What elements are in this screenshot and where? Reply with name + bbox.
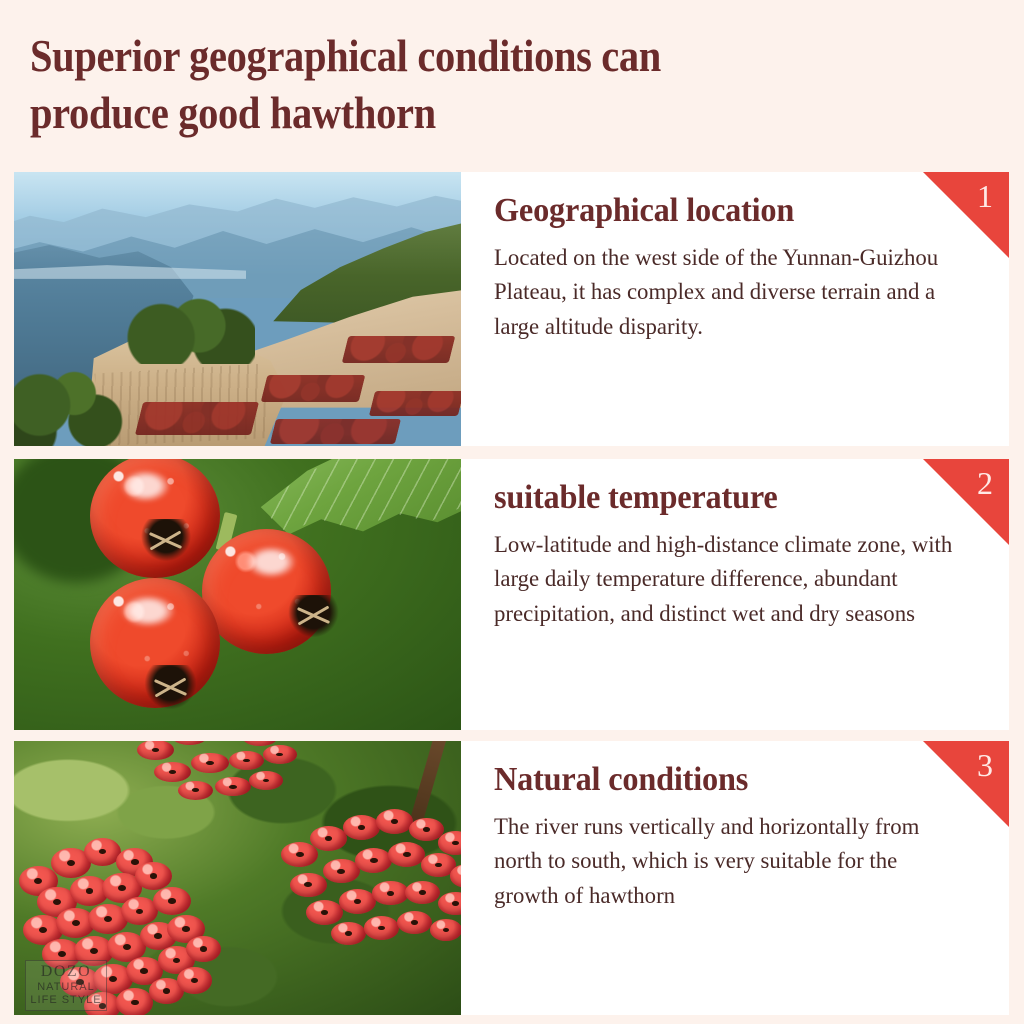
card-1-title: Geographical location [494,192,951,229]
card-3-number: 3 [977,749,993,781]
canyon-photo [14,172,461,446]
hawthorn-berry-shape [405,881,440,904]
info-card-2: 2 suitable temperature Low-latitude and … [14,459,1009,730]
hawthorn-berry-shape [430,919,462,941]
card-1-image [14,172,461,446]
card-1-body: 1 Geographical location Located on the w… [461,172,1009,446]
hawthorn-berry-shape [186,936,221,962]
hawthorn-berry-shape [339,889,376,914]
hawthorn-berry-shape [154,762,191,782]
hawthorn-berry-shape [178,781,214,801]
card-2-image [14,459,461,730]
hawthorn-fruit-photo [14,459,461,730]
hawthorn-berry-shape [171,741,208,745]
card-3-description: The river runs vertically and horizontal… [494,810,958,912]
hawthorn-berry-shape [229,751,265,771]
watermark-line-1: NATURAL [30,981,102,993]
hawthorn-berry-shape [177,967,212,993]
watermark-brand: DOZO [30,963,102,981]
hawthorn-berry-shape [263,745,297,764]
fruit-highlight-shape [246,546,295,579]
hawthorn-berry-shape [438,892,461,915]
hawthorn-berry-shape [116,988,153,1015]
card-2-description: Low-latitude and high-distance climate z… [494,528,958,630]
hawthorn-berry-shape [306,900,343,925]
hawthorn-berry-shape [372,881,409,906]
hawthorn-berry-shape [323,859,360,884]
hawthorn-berry-shape [310,826,347,851]
berry-cluster [273,801,461,938]
hawthorn-berry-shape [137,741,174,760]
card-1-number: 1 [977,180,993,212]
card-1-description: Located on the west side of the Yunnan-G… [494,241,958,343]
info-card-3: DOZO NATURAL LIFE STYLE 3 Natural condit… [14,741,1009,1015]
brand-watermark: DOZO NATURAL LIFE STYLE [25,960,107,1011]
hawthorn-berry-shape [215,777,251,797]
hawthorn-berry-shape [355,848,392,873]
infographic-page: Superior geographical conditions can pro… [0,0,1024,1024]
fruit-highlight-shape [121,595,175,628]
atmospheric-haze-overlay [14,172,461,446]
hawthorn-berry-shape [343,815,380,840]
hawthorn-berry-shape [290,873,327,898]
fruit-calyx-shape [282,595,345,638]
card-2-number: 2 [977,467,993,499]
hawthorn-berry-shape [153,887,190,915]
hawthorn-cluster-photo: DOZO NATURAL LIFE STYLE [14,741,461,1015]
hawthorn-berry-shape [331,922,366,945]
card-2-body: 2 suitable temperature Low-latitude and … [461,459,1009,730]
hawthorn-berry-shape [376,809,413,834]
watermark-line-2: LIFE STYLE [30,994,102,1006]
hawthorn-berry-shape [438,831,461,854]
hawthorn-berry-shape [135,862,172,890]
info-card-1: 1 Geographical location Located on the w… [14,172,1009,446]
hawthorn-berry-shape [249,771,283,790]
fruit-calyx-shape [139,665,202,711]
hawthorn-berry-shape [397,911,432,934]
card-3-body: 3 Natural conditions The river runs vert… [461,741,1009,1015]
card-3-title: Natural conditions [494,761,951,798]
fruit-calyx-shape [135,519,198,562]
card-2-title: suitable temperature [494,479,951,516]
page-title: Superior geographical conditions can pro… [30,28,876,141]
hawthorn-berry-shape [388,842,425,867]
hawthorn-berry-shape [364,916,399,939]
card-3-image: DOZO NATURAL LIFE STYLE [14,741,461,1015]
hawthorn-berry-shape [191,753,228,773]
